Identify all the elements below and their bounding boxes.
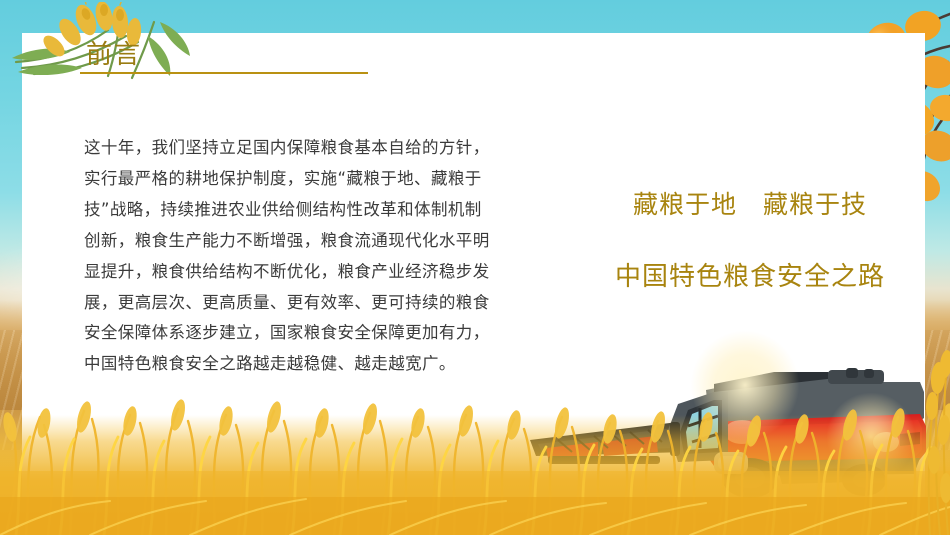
sun-glow-decoration — [826, 392, 916, 482]
title-underline — [80, 72, 368, 74]
slide-canvas: 前言 这十年，我们坚持立足国内保障粮食基本自给的方针， 实行最严格的耕地保护制度… — [0, 0, 950, 535]
slogan-secondary: 中国特色粮食安全之路 — [570, 258, 930, 296]
body-line: 显提升，粮食供给结构不断优化，粮食产业经济稳步发 — [84, 257, 546, 288]
body-line: 技”战略，持续推进农业供给侧结构性改革和体制机制 — [84, 195, 546, 226]
slogan-primary: 藏粮于地 藏粮于技 — [570, 186, 930, 224]
body-paragraph: 这十年，我们坚持立足国内保障粮食基本自给的方针， 实行最严格的耕地保护制度，实施… — [84, 133, 546, 380]
sun-glow-decoration — [690, 330, 800, 440]
body-line: 安全保障体系逐步建立，国家粮食安全保障更加有力， — [84, 318, 546, 349]
body-line: 展，更高层次、更高质量、更有效率、更可持续的粮食 — [84, 288, 546, 319]
body-line: 实行最严格的耕地保护制度，实施“藏粮于地、藏粮于 — [84, 164, 546, 195]
wheat-field-icon — [910, 320, 950, 535]
slogan-block: 藏粮于地 藏粮于技 中国特色粮食安全之路 — [570, 186, 930, 296]
body-line: 中国特色粮食安全之路越走越稳健、越走越宽广。 — [84, 349, 546, 380]
body-line: 创新，粮食生产能力不断增强，粮食流通现代化水平明 — [84, 226, 546, 257]
page-title-text: 前言 — [86, 36, 386, 74]
page-title: 前言 — [86, 36, 386, 76]
body-line: 这十年，我们坚持立足国内保障粮食基本自给的方针， — [84, 133, 546, 164]
